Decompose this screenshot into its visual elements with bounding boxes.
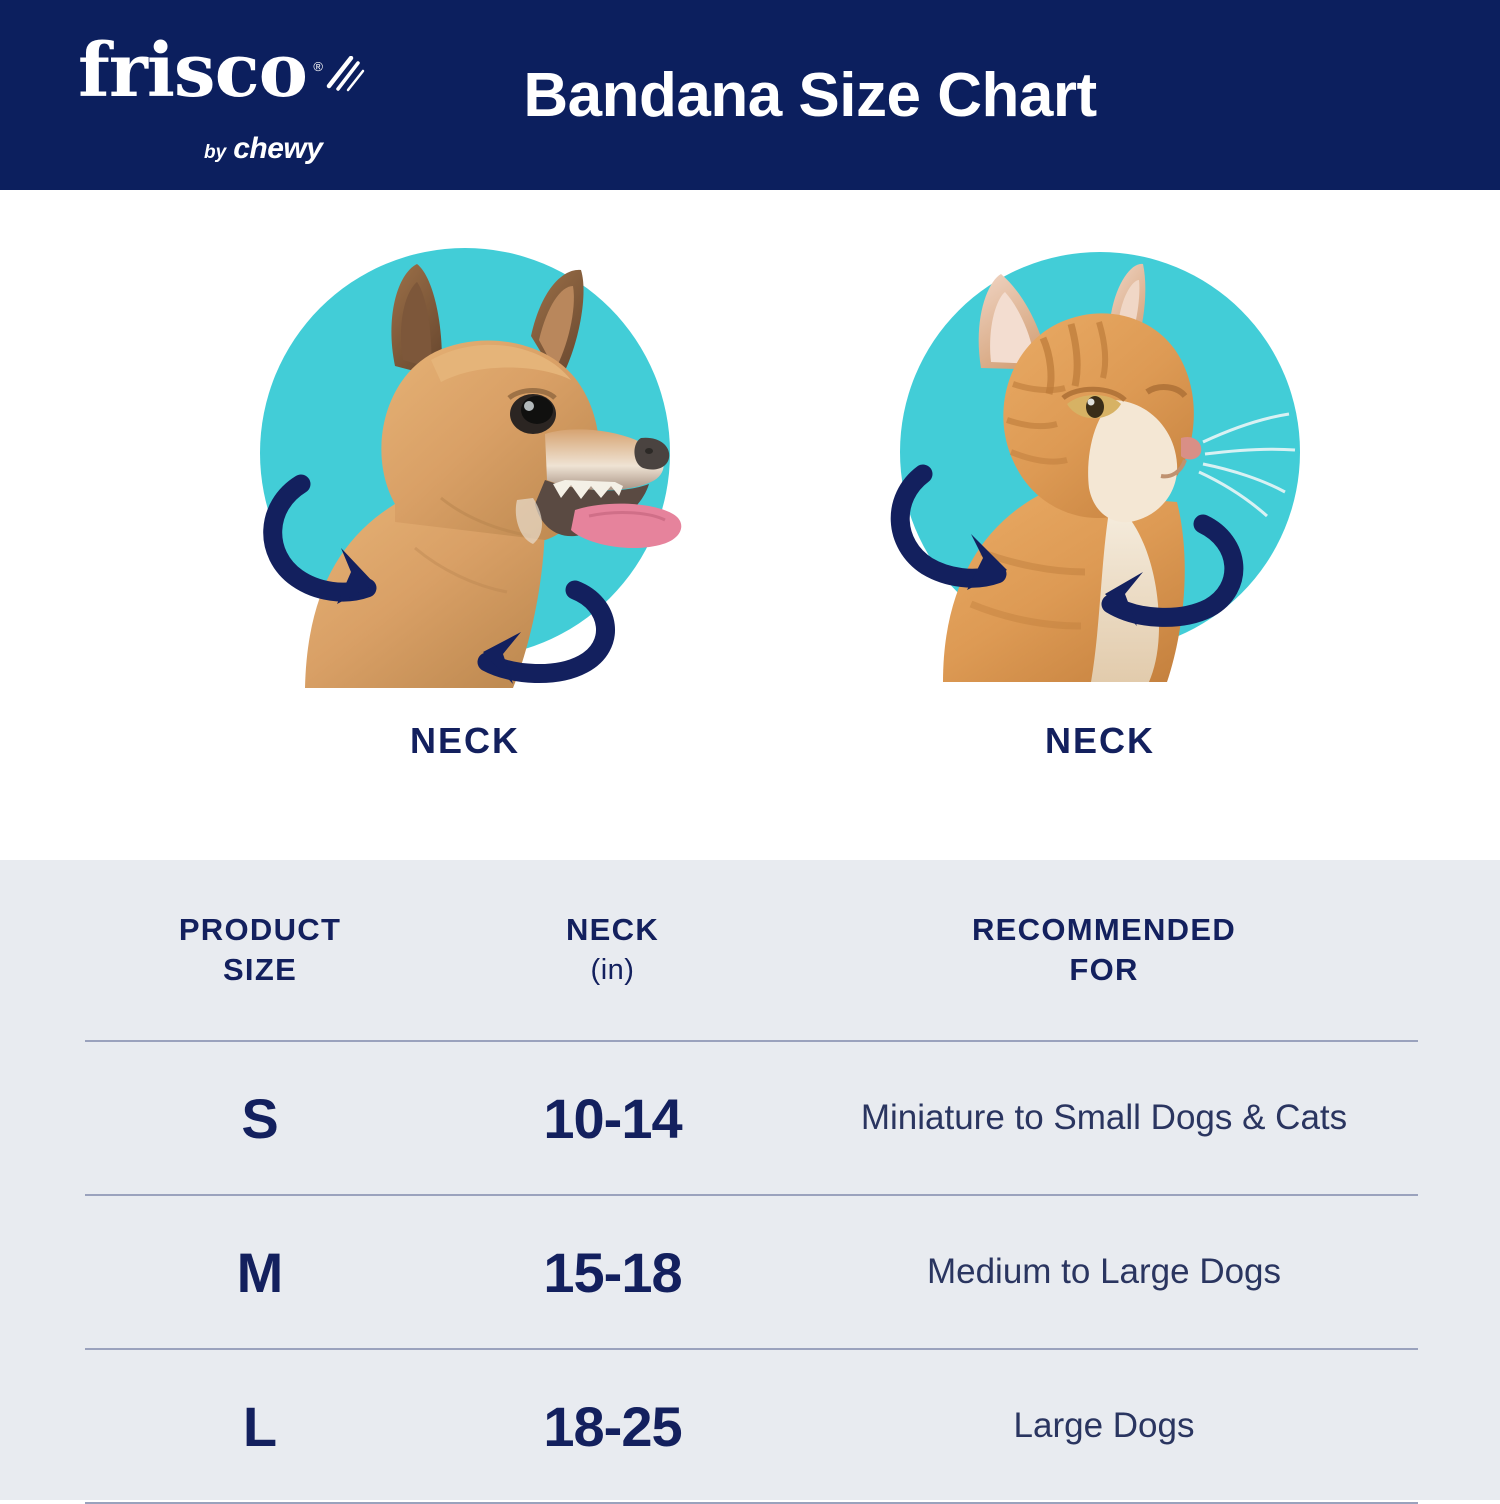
column-header-neck-line1: NECK <box>566 912 659 947</box>
column-header-recommended-for: RECOMMENDED FOR <box>790 910 1418 990</box>
cat-panel: NECK <box>790 190 1410 860</box>
cell-product-size: S <box>85 1086 435 1151</box>
table-header-row: PRODUCT SIZE NECK (in) RECOMMENDED FOR <box>85 860 1418 1040</box>
dog-panel: NECK <box>155 190 775 860</box>
size-chart-page: frisco ® by chewy Bandana Size Chart <box>0 0 1500 1500</box>
table-row: S 10-14 Miniature to Small Dogs & Cats <box>85 1042 1418 1194</box>
header-band: frisco ® by chewy Bandana Size Chart <box>0 0 1500 190</box>
column-header-neck: NECK (in) <box>435 910 790 990</box>
cell-neck: 18-25 <box>435 1394 790 1459</box>
cell-product-size: M <box>85 1240 435 1305</box>
column-header-product-size-line1: PRODUCT <box>179 912 341 947</box>
cell-neck: 10-14 <box>435 1086 790 1151</box>
column-header-neck-unit: (in) <box>435 950 790 990</box>
size-table: PRODUCT SIZE NECK (in) RECOMMENDED FOR S… <box>85 860 1418 1504</box>
column-header-recommended-for-line2: FOR <box>790 950 1418 990</box>
cell-recommended-for: Miniature to Small Dogs & Cats <box>790 1095 1418 1141</box>
column-header-product-size-line2: SIZE <box>85 950 435 990</box>
table-row: L 18-25 Large Dogs <box>85 1350 1418 1502</box>
size-table-section: PRODUCT SIZE NECK (in) RECOMMENDED FOR S… <box>0 860 1500 1500</box>
column-header-recommended-for-line1: RECOMMENDED <box>972 912 1236 947</box>
column-header-product-size: PRODUCT SIZE <box>85 910 435 990</box>
dog-figure <box>245 248 685 688</box>
cell-neck: 15-18 <box>435 1240 790 1305</box>
neck-measure-arrow-icon <box>245 248 685 688</box>
cell-recommended-for: Large Dogs <box>790 1403 1418 1449</box>
page-title: Bandana Size Chart <box>0 0 1500 190</box>
cat-neck-label: NECK <box>790 720 1410 762</box>
cat-figure <box>885 252 1315 682</box>
cell-product-size: L <box>85 1394 435 1459</box>
cell-recommended-for: Medium to Large Dogs <box>790 1249 1418 1295</box>
neck-measure-arrow-icon <box>885 252 1315 682</box>
illustration-section: NECK <box>0 190 1500 860</box>
table-row: M 15-18 Medium to Large Dogs <box>85 1196 1418 1348</box>
dog-neck-label: NECK <box>155 720 775 762</box>
